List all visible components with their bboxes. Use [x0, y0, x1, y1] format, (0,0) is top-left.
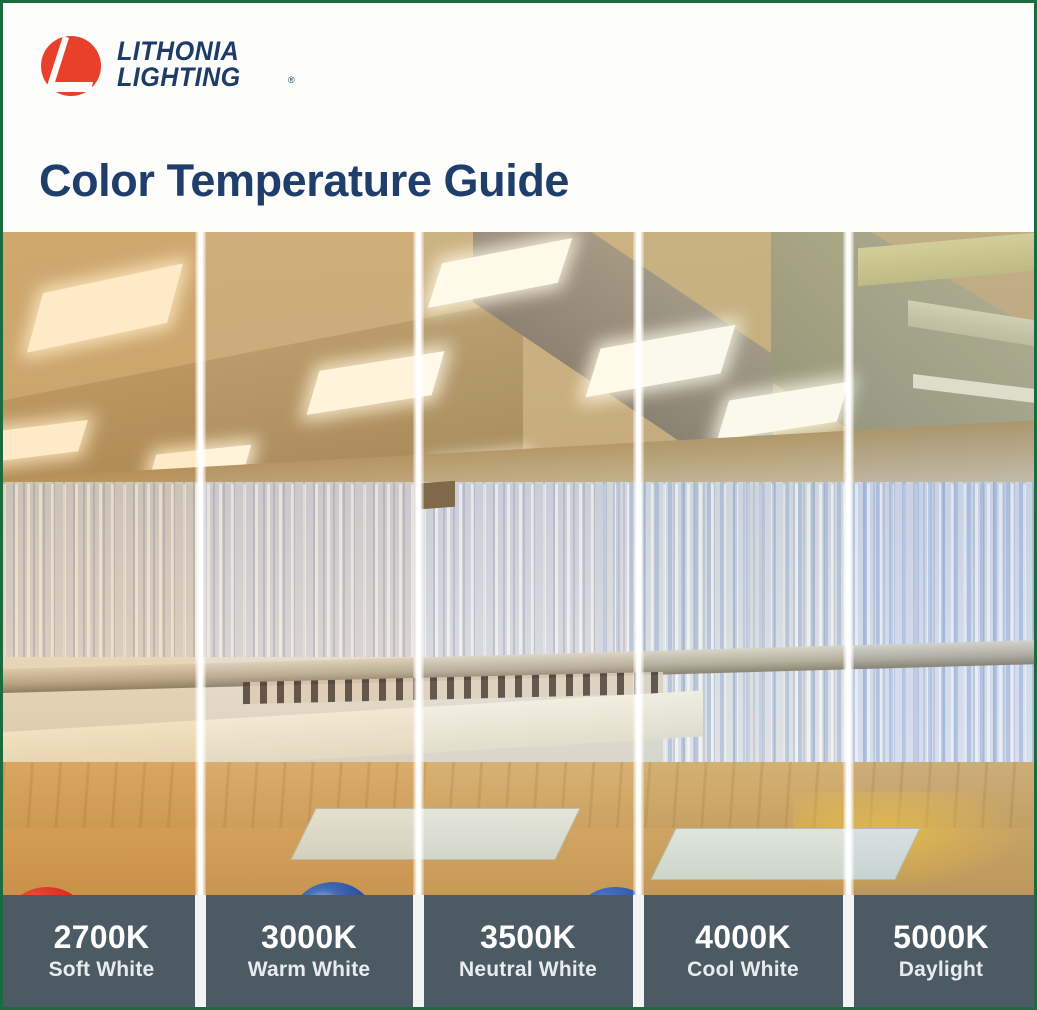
- photo-panel-2700k: [3, 232, 200, 895]
- color-name: Soft White: [49, 957, 155, 983]
- label-cell-5000k: 5000KDaylight: [848, 895, 1034, 1007]
- kelvin-value: 3500K: [480, 919, 576, 955]
- label-cell-3000k: 3000KWarm White: [200, 895, 418, 1007]
- color-name: Daylight: [899, 957, 983, 983]
- registered-trademark-mark: ®: [288, 75, 295, 85]
- panel-divider: [843, 232, 854, 895]
- studio-scene: [638, 232, 848, 895]
- color-name: Neutral White: [459, 957, 597, 983]
- label-divider: [413, 895, 424, 1007]
- lithonia-circle-logo-icon: [39, 34, 103, 98]
- photo-panel-5000k: [848, 232, 1034, 895]
- kelvin-value: 2700K: [54, 919, 150, 955]
- brand-logo: LITHONIA LIGHTING ®: [39, 28, 299, 108]
- studio-scene: [418, 232, 638, 895]
- kelvin-value: 3000K: [261, 919, 357, 955]
- color-name: Warm White: [248, 957, 371, 983]
- photo-panel-3500k: [418, 232, 638, 895]
- label-cell-4000k: 4000KCool White: [638, 895, 848, 1007]
- kelvin-value: 5000K: [893, 919, 989, 955]
- label-divider: [843, 895, 854, 1007]
- color-temperature-photo-strip: [3, 232, 1034, 895]
- brand-wordmark-line1: LITHONIA: [117, 38, 294, 64]
- photo-panel-3000k: [200, 232, 418, 895]
- color-name: Cool White: [687, 957, 799, 983]
- label-divider: [633, 895, 644, 1007]
- panel-divider: [195, 232, 206, 895]
- color-temperature-label-strip: 2700KSoft White3000KWarm White3500KNeutr…: [3, 895, 1034, 1007]
- color-temperature-guide-page: LITHONIA LIGHTING ® Color Temperature Gu…: [0, 0, 1037, 1010]
- label-divider: [195, 895, 206, 1007]
- studio-scene: [3, 232, 200, 895]
- brand-wordmark-line2: LIGHTING: [117, 64, 294, 90]
- brand-wordmark: LITHONIA LIGHTING: [117, 38, 307, 90]
- label-cell-2700k: 2700KSoft White: [3, 895, 200, 1007]
- page-header: LITHONIA LIGHTING ® Color Temperature Gu…: [3, 3, 1034, 232]
- kelvin-value: 4000K: [695, 919, 791, 955]
- page-title: Color Temperature Guide: [39, 155, 569, 207]
- studio-scene: [200, 232, 418, 895]
- panel-divider: [413, 232, 424, 895]
- label-cell-3500k: 3500KNeutral White: [418, 895, 638, 1007]
- photo-panel-4000k: [638, 232, 848, 895]
- panel-divider: [633, 232, 644, 895]
- studio-scene: [848, 232, 1034, 895]
